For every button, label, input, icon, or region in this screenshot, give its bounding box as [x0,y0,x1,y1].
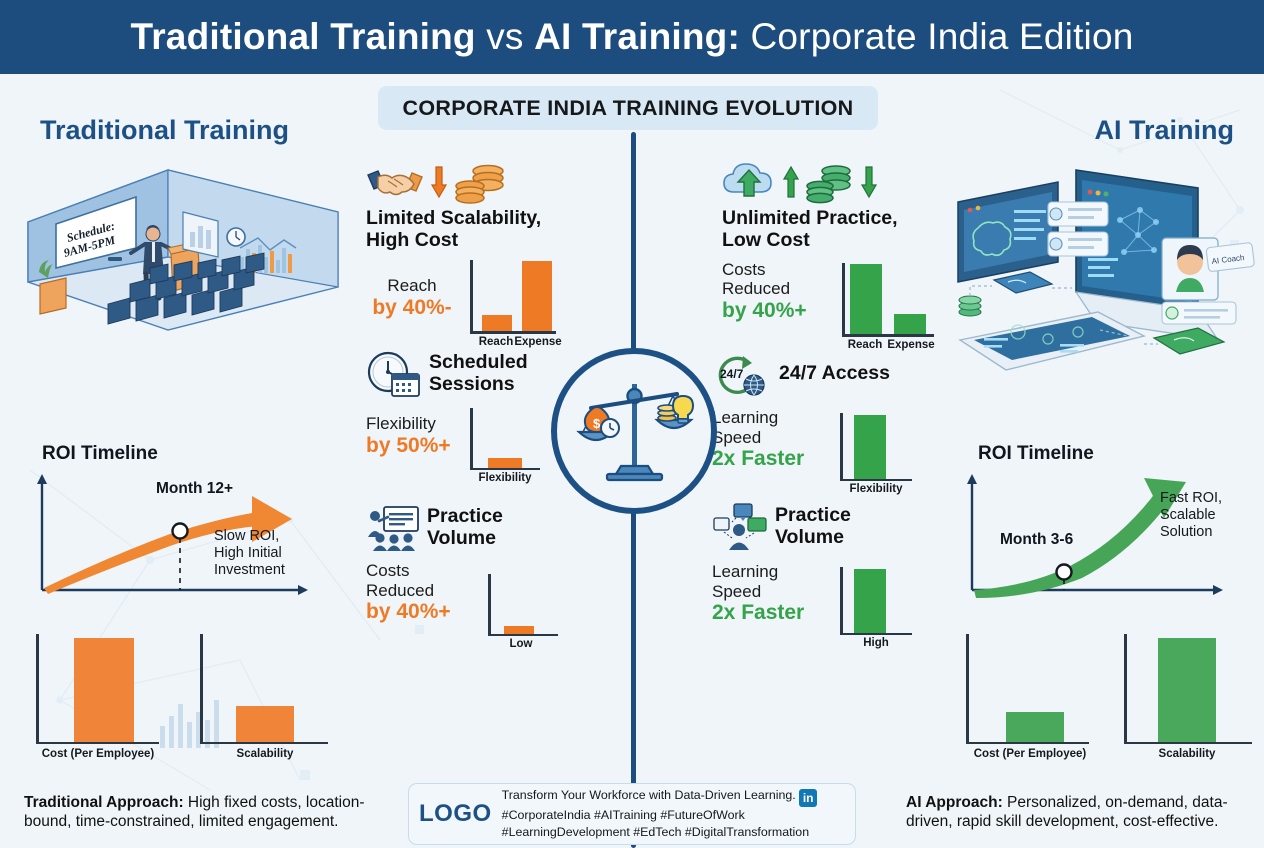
left-footer-bold: Traditional Approach: [24,794,184,811]
row3-trad-metric-value: by 40%+ [366,600,478,624]
row1-ai-metric-label: Costs Reduced [722,260,834,299]
page-title-part-2: AI Training: [534,16,740,57]
row1-trad-heading-line1: Limited Scalability, [366,207,541,229]
cta-panel[interactable]: LOGO Transform Your Workforce with Data-… [408,783,856,845]
row3-ai-metric-value: 2x Faster [712,601,830,625]
right-cost-chart: Cost (Per Employee) [966,634,1089,744]
logo-placeholder: LOGO [419,800,492,828]
row2-trad-mini-chart: Flexibility [470,408,540,470]
row1-trad-metric-label: Reach [366,276,458,296]
bar-cost-per-employee [1006,712,1064,742]
left-outcomes-chart: Cost (Per Employee) Scalability [20,630,350,770]
row3-ai-mini-chart: High [840,567,912,635]
mini-tick-high: High [838,637,914,649]
cta-line-1: Transform Your Workforce with Data-Drive… [502,787,845,807]
mini-tick-flexibility: Flexibility [838,483,914,495]
left-roi-title: ROI Timeline [42,443,158,465]
label-scalability: Scalability [1126,748,1248,760]
row3-ai-metric-label: Learning Speed [712,562,830,601]
mini-bar-expense [894,314,926,334]
right-footer-bold: AI Approach: [906,794,1003,811]
row1-trad-metric-value: by 40%- [366,296,458,320]
row3-ai-heading-line2: Volume [775,526,844,548]
cloud-up-icon [722,162,776,202]
calendar-icon [392,374,419,396]
row2-trad-metric-value: by 50%+ [366,434,458,458]
right-roi-note-line2: Scalable [1160,507,1260,524]
evolution-badge-label: CORPORATE INDIA TRAINING EVOLUTION [403,96,854,121]
row3-trad-metric-label: Costs Reduced [366,561,478,600]
arrow-down-icon [861,165,877,199]
row2-trad-heading-line1: Scheduled [429,351,528,373]
page-title: Traditional Training vs AI Training: Cor… [130,16,1133,58]
mini-tick-expense: Expense [512,336,564,348]
row3-trad-heading: Practice Volume [427,506,503,550]
left-roi-note: Slow ROI, High Initial Investment [214,528,324,579]
right-roi-note-line3: Solution [1160,524,1260,541]
comparison-row-3-ai: Practice Volume Learning Speed 2x Faster… [712,502,972,635]
right-footer-note: AI Approach: Personalized, on-demand, da… [906,793,1254,832]
row1-trad-heading: Limited Scalability, High Cost [366,208,622,252]
row1-trad-mini-chart: Reach Expense [470,260,556,334]
right-scalability-chart: Scalability [1124,634,1252,744]
row2-trad-metric-label: Flexibility [366,414,458,434]
comparison-row-3-traditional: Practice Volume Costs Reduced by 40%+ Lo… [366,505,616,636]
linkedin-icon[interactable]: in [799,789,817,807]
row1-ai-mini-chart: Reach Expense [842,263,934,337]
row2-ai-heading: 24/7 Access [779,363,890,385]
clock-icon [366,350,422,398]
right-roi-title: ROI Timeline [978,443,1094,465]
right-roi-note-line1: Fast ROI, [1160,490,1260,507]
left-roi-note-line1: Slow ROI, [214,528,324,545]
traditional-classroom-illustration: Schedule: 9AM-5PM [18,152,348,332]
left-roi-note-line2: High Initial [214,545,324,562]
row3-ai-heading: Practice Volume [775,505,851,549]
row1-trad-heading-line2: High Cost [366,229,458,251]
mini-tick-flexibility: Flexibility [468,472,542,484]
left-cost-chart: Cost (Per Employee) [36,634,159,744]
balance-scales-badge: $ [551,348,717,514]
left-scalability-chart: Scalability [200,634,328,744]
row1-ai-heading-line1: Unlimited Practice, [722,207,898,229]
arrow-up-icon [783,165,799,199]
row2-trad-heading-line2: Sessions [429,373,515,395]
label-scalability: Scalability [204,748,326,760]
mini-bar-high [854,569,886,633]
balance-scales-icon: $ [569,366,699,496]
row3-trad-heading-line1: Practice [427,505,503,527]
mini-bar-reach [482,315,512,331]
cycle-247-icon: 24/7 [712,350,768,398]
left-footer-note: Traditional Approach: High fixed costs, … [24,793,386,832]
bar-scalability [1158,638,1216,742]
infographic-page: Traditional Training vs AI Training: Cor… [0,0,1264,848]
row2-trad-heading: Scheduled Sessions [429,352,528,396]
comparison-row-1-ai: Unlimited Practice, Low Cost Costs Reduc… [722,160,972,337]
label-cost-per-employee: Cost (Per Employee) [18,748,178,760]
mini-bar-expense [522,261,552,331]
right-roi-month-marker: Month 3-6 [1000,531,1073,549]
label-cost-per-employee: Cost (Per Employee) [950,748,1110,760]
evolution-badge: CORPORATE INDIA TRAINING EVOLUTION [378,86,878,130]
cta-line-3: #LearningDevelopment #EdTech #DigitalTra… [502,824,845,841]
left-roi-note-line3: Investment [214,562,324,579]
mini-bar-reach [850,264,882,334]
page-title-vs: vs [476,16,534,57]
mini-bar-flexibility [488,458,522,468]
ai-coach-card: AI Coach [1162,238,1255,300]
row3-ai-heading-line1: Practice [775,504,851,526]
right-roi-note: Fast ROI, Scalable Solution [1160,490,1260,541]
row1-trad-icons [366,160,622,204]
ai-training-illustration: AI Coach [948,140,1258,390]
page-header: Traditional Training vs AI Training: Cor… [0,0,1264,74]
page-title-part-3: Corporate India Edition [740,16,1134,57]
row1-ai-heading: Unlimited Practice, Low Cost [722,208,972,252]
page-title-part-1: Traditional Training [130,16,475,57]
left-roi-month-marker: Month 12+ [156,480,233,498]
svg-text:24/7: 24/7 [720,367,744,381]
row2-ai-metric-value: 2x Faster [712,447,830,471]
row3-ai-icons: Practice Volume [712,502,972,552]
mini-bar-flexibility [854,415,886,479]
arrow-down-icon [431,165,447,199]
cta-lines: Transform Your Workforce with Data-Drive… [502,787,845,842]
bar-cost-per-employee [74,638,134,742]
mini-bar-low [504,626,534,634]
row2-ai-metric-label: Learning Speed [712,408,830,447]
classroom-presenter-icon [366,505,420,551]
bar-scalability [236,706,294,742]
right-outcomes-chart: Cost (Per Employee) Scalability [950,630,1262,770]
right-column-title: AI Training [1094,115,1234,146]
comparison-row-1-traditional: Limited Scalability, High Cost Reach by … [366,160,622,334]
row2-ai-mini-chart: Flexibility [840,413,912,481]
globe-icon [744,375,764,395]
row3-trad-icons: Practice Volume [366,505,616,551]
row3-trad-heading-line2: Volume [427,527,496,549]
row1-ai-heading-line2: Low Cost [722,229,810,251]
network-chat-icon [712,502,768,552]
row2-ai-icons: 24/7 24/7 Access [712,350,972,398]
coins-icon [454,160,508,204]
row3-trad-mini-chart: Low [488,574,558,636]
comparison-row-2-ai: 24/7 24/7 Access Learning Speed 2x Faste… [712,350,972,481]
row1-ai-metric-value: by 40%+ [722,299,834,323]
svg-text:$: $ [593,416,601,431]
coins-icon [806,160,854,204]
row1-ai-icons [722,160,972,204]
cta-line-2: #CorporateIndia #AITraining #FutureOfWor… [502,807,845,824]
mini-tick-low: Low [486,638,556,650]
left-column-title: Traditional Training [40,115,289,146]
handshake-icon [366,161,424,203]
